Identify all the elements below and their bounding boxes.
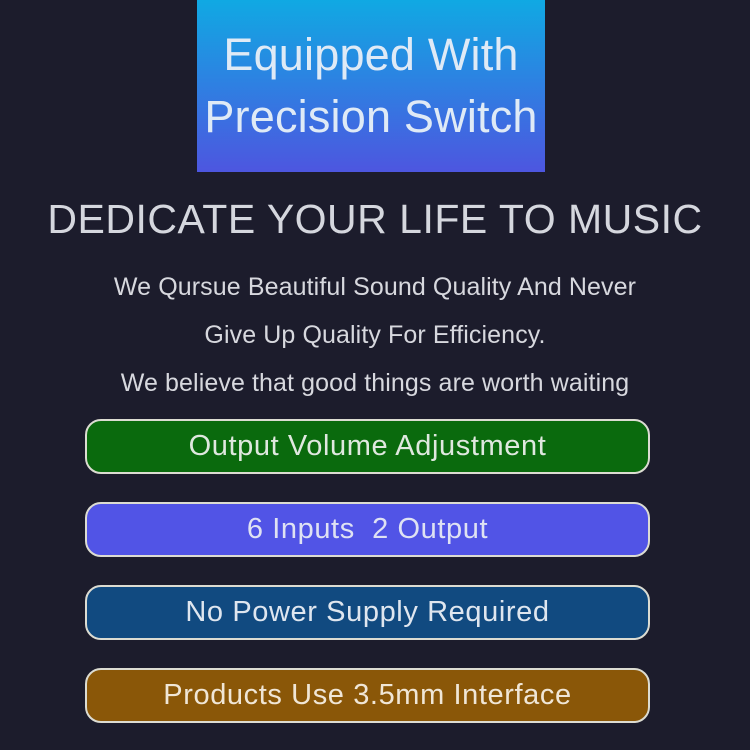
feature-pill-label: Products Use 3.5mm Interface xyxy=(163,681,571,710)
hero-line-1: Equipped With xyxy=(223,24,518,86)
tagline-line-1: We Qursue Beautiful Sound Quality And Ne… xyxy=(0,263,750,311)
tagline-line-3: We believe that good things are worth wa… xyxy=(0,359,750,407)
feature-pill-35mm-interface[interactable]: Products Use 3.5mm Interface xyxy=(85,668,650,723)
page-title: DEDICATE YOUR LIFE TO MUSIC xyxy=(0,196,750,243)
hero-banner: Equipped With Precision Switch xyxy=(197,0,545,172)
feature-pill-no-power-supply-required[interactable]: No Power Supply Required xyxy=(85,585,650,640)
tagline-block: We Qursue Beautiful Sound Quality And Ne… xyxy=(0,263,750,407)
feature-pill-inputs-outputs[interactable]: 6 Inputs 2 Output xyxy=(85,502,650,557)
feature-list: Output Volume Adjustment 6 Inputs 2 Outp… xyxy=(85,419,650,723)
feature-pill-label: 6 Inputs 2 Output xyxy=(247,515,488,544)
hero-line-2: Precision Switch xyxy=(204,86,537,148)
feature-pill-output-volume-adjustment[interactable]: Output Volume Adjustment xyxy=(85,419,650,474)
tagline-line-2: Give Up Quality For Efficiency. xyxy=(0,311,750,359)
feature-pill-label: Output Volume Adjustment xyxy=(189,432,547,461)
feature-pill-label: No Power Supply Required xyxy=(185,598,549,627)
product-feature-panel: Equipped With Precision Switch DEDICATE … xyxy=(0,0,750,750)
